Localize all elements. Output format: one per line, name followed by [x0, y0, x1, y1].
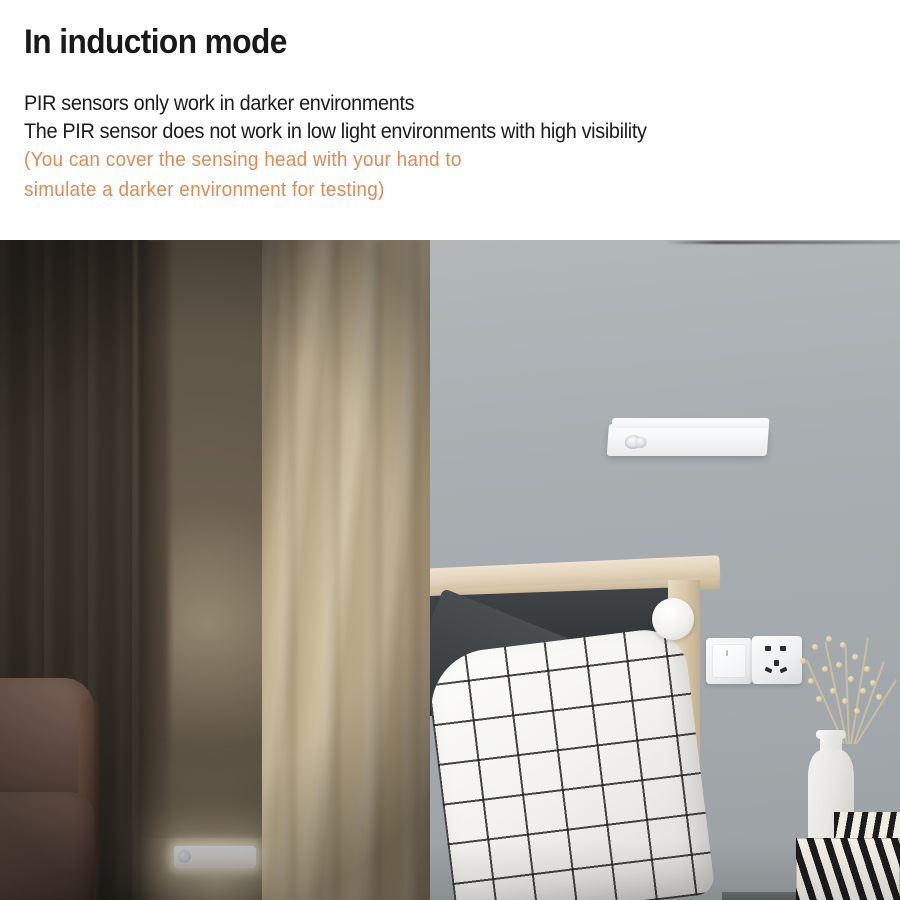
header-section: In induction mode PIR sensors only work …: [0, 0, 900, 240]
page-title: In induction mode: [24, 22, 816, 62]
curtain-fold: [366, 240, 382, 900]
note-line-2: simulate a darker environment for testin…: [24, 176, 833, 205]
curtain-fold: [280, 240, 296, 900]
dark-room-cream-curtain: [262, 240, 430, 900]
bright-room-pillow-pompom: [652, 598, 694, 640]
bright-room-sensor-light-off: [607, 418, 770, 458]
switch-rocker[interactable]: [712, 644, 746, 678]
description-block: PIR sensors only work in darker environm…: [24, 90, 876, 205]
lamp-top-edge: [612, 418, 770, 428]
note-line-1: (You can cover the sensing head with you…: [24, 146, 833, 175]
socket-pin-hole: [774, 660, 779, 666]
photo-panel-dark-room: PIR sensors only sense in darker environ…: [0, 240, 430, 900]
description-line-1: PIR sensors only work in darker environm…: [24, 90, 829, 118]
dark-room-sensor-light-on: [174, 846, 256, 868]
socket-pin-hole: [764, 667, 772, 674]
wall-light-switch[interactable]: [706, 638, 752, 684]
socket-pin-hole: [765, 646, 771, 651]
curtain-fold: [404, 240, 420, 900]
bright-room-ceiling-line: [666, 241, 900, 244]
bright-room-zebra-object: [796, 838, 900, 900]
dark-room-wall-seam: [134, 240, 137, 640]
comparison-image-strip: PIR sensors only sense in darker environ…: [0, 240, 900, 900]
dark-room-armchair-arm: [0, 792, 94, 900]
bright-room-dried-flowers: [782, 632, 900, 744]
curtain-fold: [324, 240, 340, 900]
pir-sensor-icon: [178, 850, 191, 863]
dark-room-curtain-edge: [140, 240, 174, 900]
bright-room-grid-pillow: [430, 625, 715, 900]
switch-indicator-icon: [726, 650, 728, 656]
photo-panel-bright-room: In low light environments, visibility is…: [430, 240, 900, 900]
page-root: In induction mode PIR sensors only work …: [0, 0, 900, 900]
description-line-2: The PIR sensor does not work in low ligh…: [24, 118, 829, 146]
